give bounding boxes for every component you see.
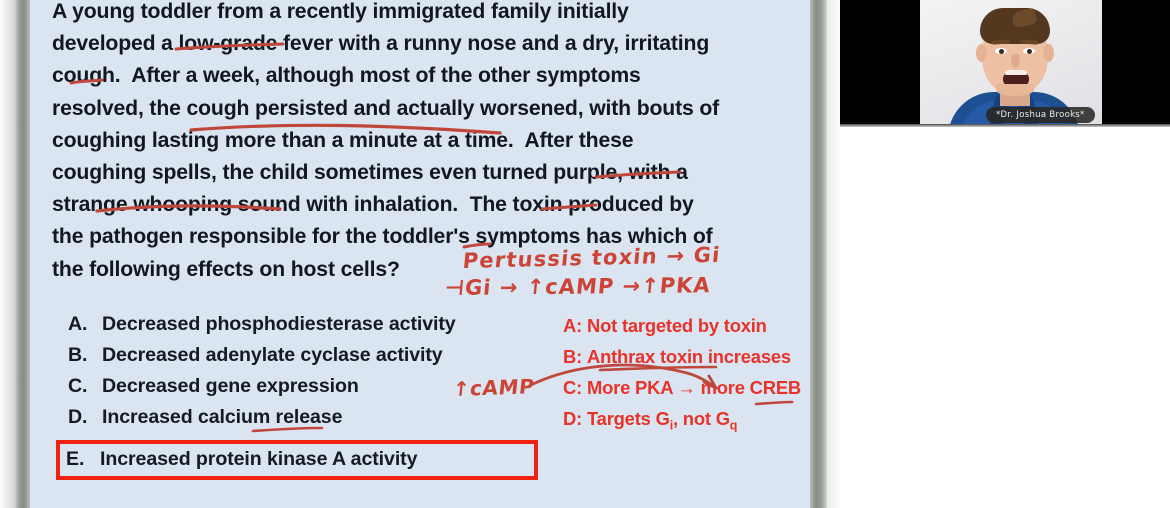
- annotation-row-a: A: Not targeted by toxin: [563, 315, 810, 346]
- annotation-key: D:: [563, 408, 587, 430]
- annotation-value: Not targeted by toxin: [587, 315, 767, 337]
- presenter-teeth: [1005, 70, 1027, 75]
- option-letter: C.: [68, 375, 102, 398]
- option-row-a[interactable]: A. Decreased phosphodiesterase activity: [68, 313, 588, 344]
- annotation-row-d: D: Targets Gi, not Gq: [563, 408, 810, 439]
- annotation-value: Targets Gi, not Gq: [587, 408, 737, 433]
- option-text: Decreased gene expression: [102, 375, 359, 398]
- slide-frame-left: [14, 0, 30, 508]
- option-text: Increased calcium release: [102, 406, 342, 429]
- annotation-key: A:: [563, 315, 587, 337]
- option-row-d[interactable]: D. Increased calcium release: [68, 406, 588, 437]
- annotation-value-part2: , not G: [673, 408, 730, 429]
- presenter-nose: [1011, 54, 1020, 68]
- slide-frame-left-outer: [0, 0, 15, 508]
- presenter-ear-left: [976, 44, 987, 62]
- annotation-value-part1: Targets G: [587, 408, 670, 429]
- presenter-name-label: *Dr. Joshua Brooks*: [986, 107, 1095, 123]
- annotation-key: C:: [563, 377, 587, 399]
- option-letter: A.: [68, 313, 102, 336]
- slide-frame-right-outer: [827, 0, 840, 508]
- annotation-key: B:: [563, 346, 587, 368]
- option-letter: D.: [68, 406, 102, 429]
- annotation-subscript-q: q: [730, 419, 737, 433]
- annotation-value: More PKA → more CREB: [587, 377, 801, 399]
- presenter-video-feed[interactable]: *Dr. Joshua Brooks*: [920, 0, 1102, 126]
- instructor-annotation-column: A: Not targeted by toxin B: Anthrax toxi…: [563, 315, 810, 439]
- annotation-row-b: B: Anthrax toxin increases: [563, 346, 810, 377]
- option-letter: E.: [66, 448, 100, 471]
- slide-canvas: A young toddler from a recently immigrat…: [30, 0, 810, 508]
- webcam-panel[interactable]: *Dr. Joshua Brooks*: [840, 0, 1170, 126]
- option-row-e-correct[interactable]: E. Increased protein kinase A activity: [56, 440, 538, 480]
- option-text: Increased protein kinase A activity: [100, 448, 417, 471]
- presenter-pupil-left: [999, 49, 1004, 54]
- annotation-value: Anthrax toxin increases: [587, 346, 791, 368]
- handwritten-note-camp-pka: ⊣Gi → ↑cAMP →↑PKA: [444, 273, 712, 300]
- handwritten-note-camp: ↑cAMP: [451, 374, 535, 401]
- option-letter: B.: [68, 344, 102, 367]
- presenter-chin: [996, 84, 1034, 96]
- annotation-row-c: C: More PKA → more CREB: [563, 377, 810, 408]
- presenter-ear-right: [1043, 44, 1054, 62]
- right-blank-area: [840, 127, 1170, 508]
- option-text: Decreased adenylate cyclase activity: [102, 344, 443, 367]
- presenter-pupil-right: [1027, 49, 1032, 54]
- presentation-slide-region: A young toddler from a recently immigrat…: [0, 0, 840, 508]
- option-row-b[interactable]: B. Decreased adenylate cyclase activity: [68, 344, 588, 375]
- option-text: Decreased phosphodiesterase activity: [102, 313, 456, 336]
- slide-frame-right: [810, 0, 827, 508]
